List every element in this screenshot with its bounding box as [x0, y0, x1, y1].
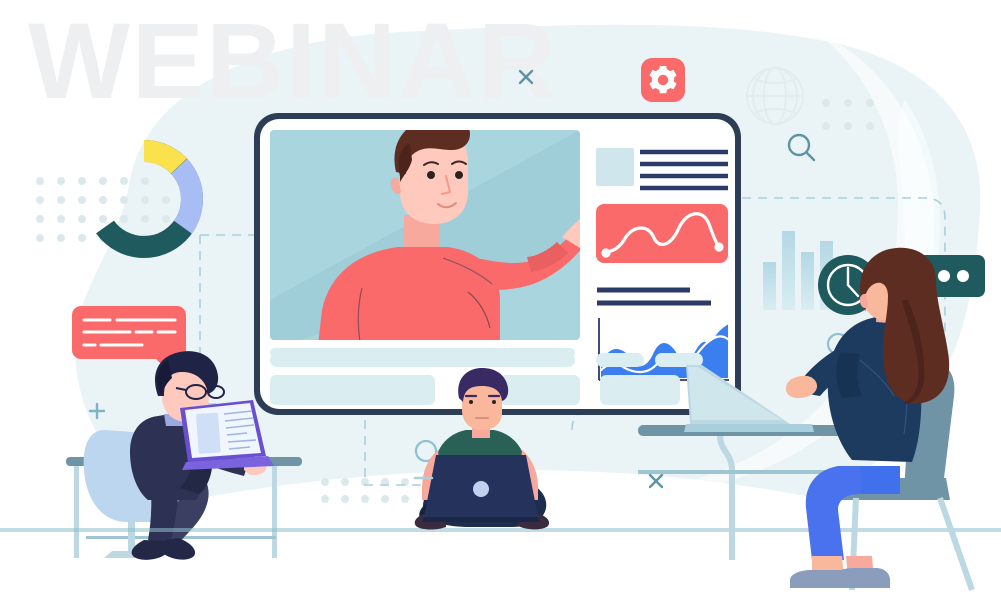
illustration-canvas: WEBINAR — [0, 0, 1001, 601]
shoes-right — [790, 568, 890, 588]
laptop-center — [422, 455, 540, 522]
line-chart-card — [596, 204, 728, 263]
monitor — [254, 113, 741, 415]
gear-icon[interactable] — [641, 58, 685, 102]
video-panel — [270, 119, 601, 345]
page-title: WEBINAR — [28, 0, 558, 121]
screen-divider-bars — [270, 348, 575, 357]
thumbnail-block — [596, 148, 634, 186]
